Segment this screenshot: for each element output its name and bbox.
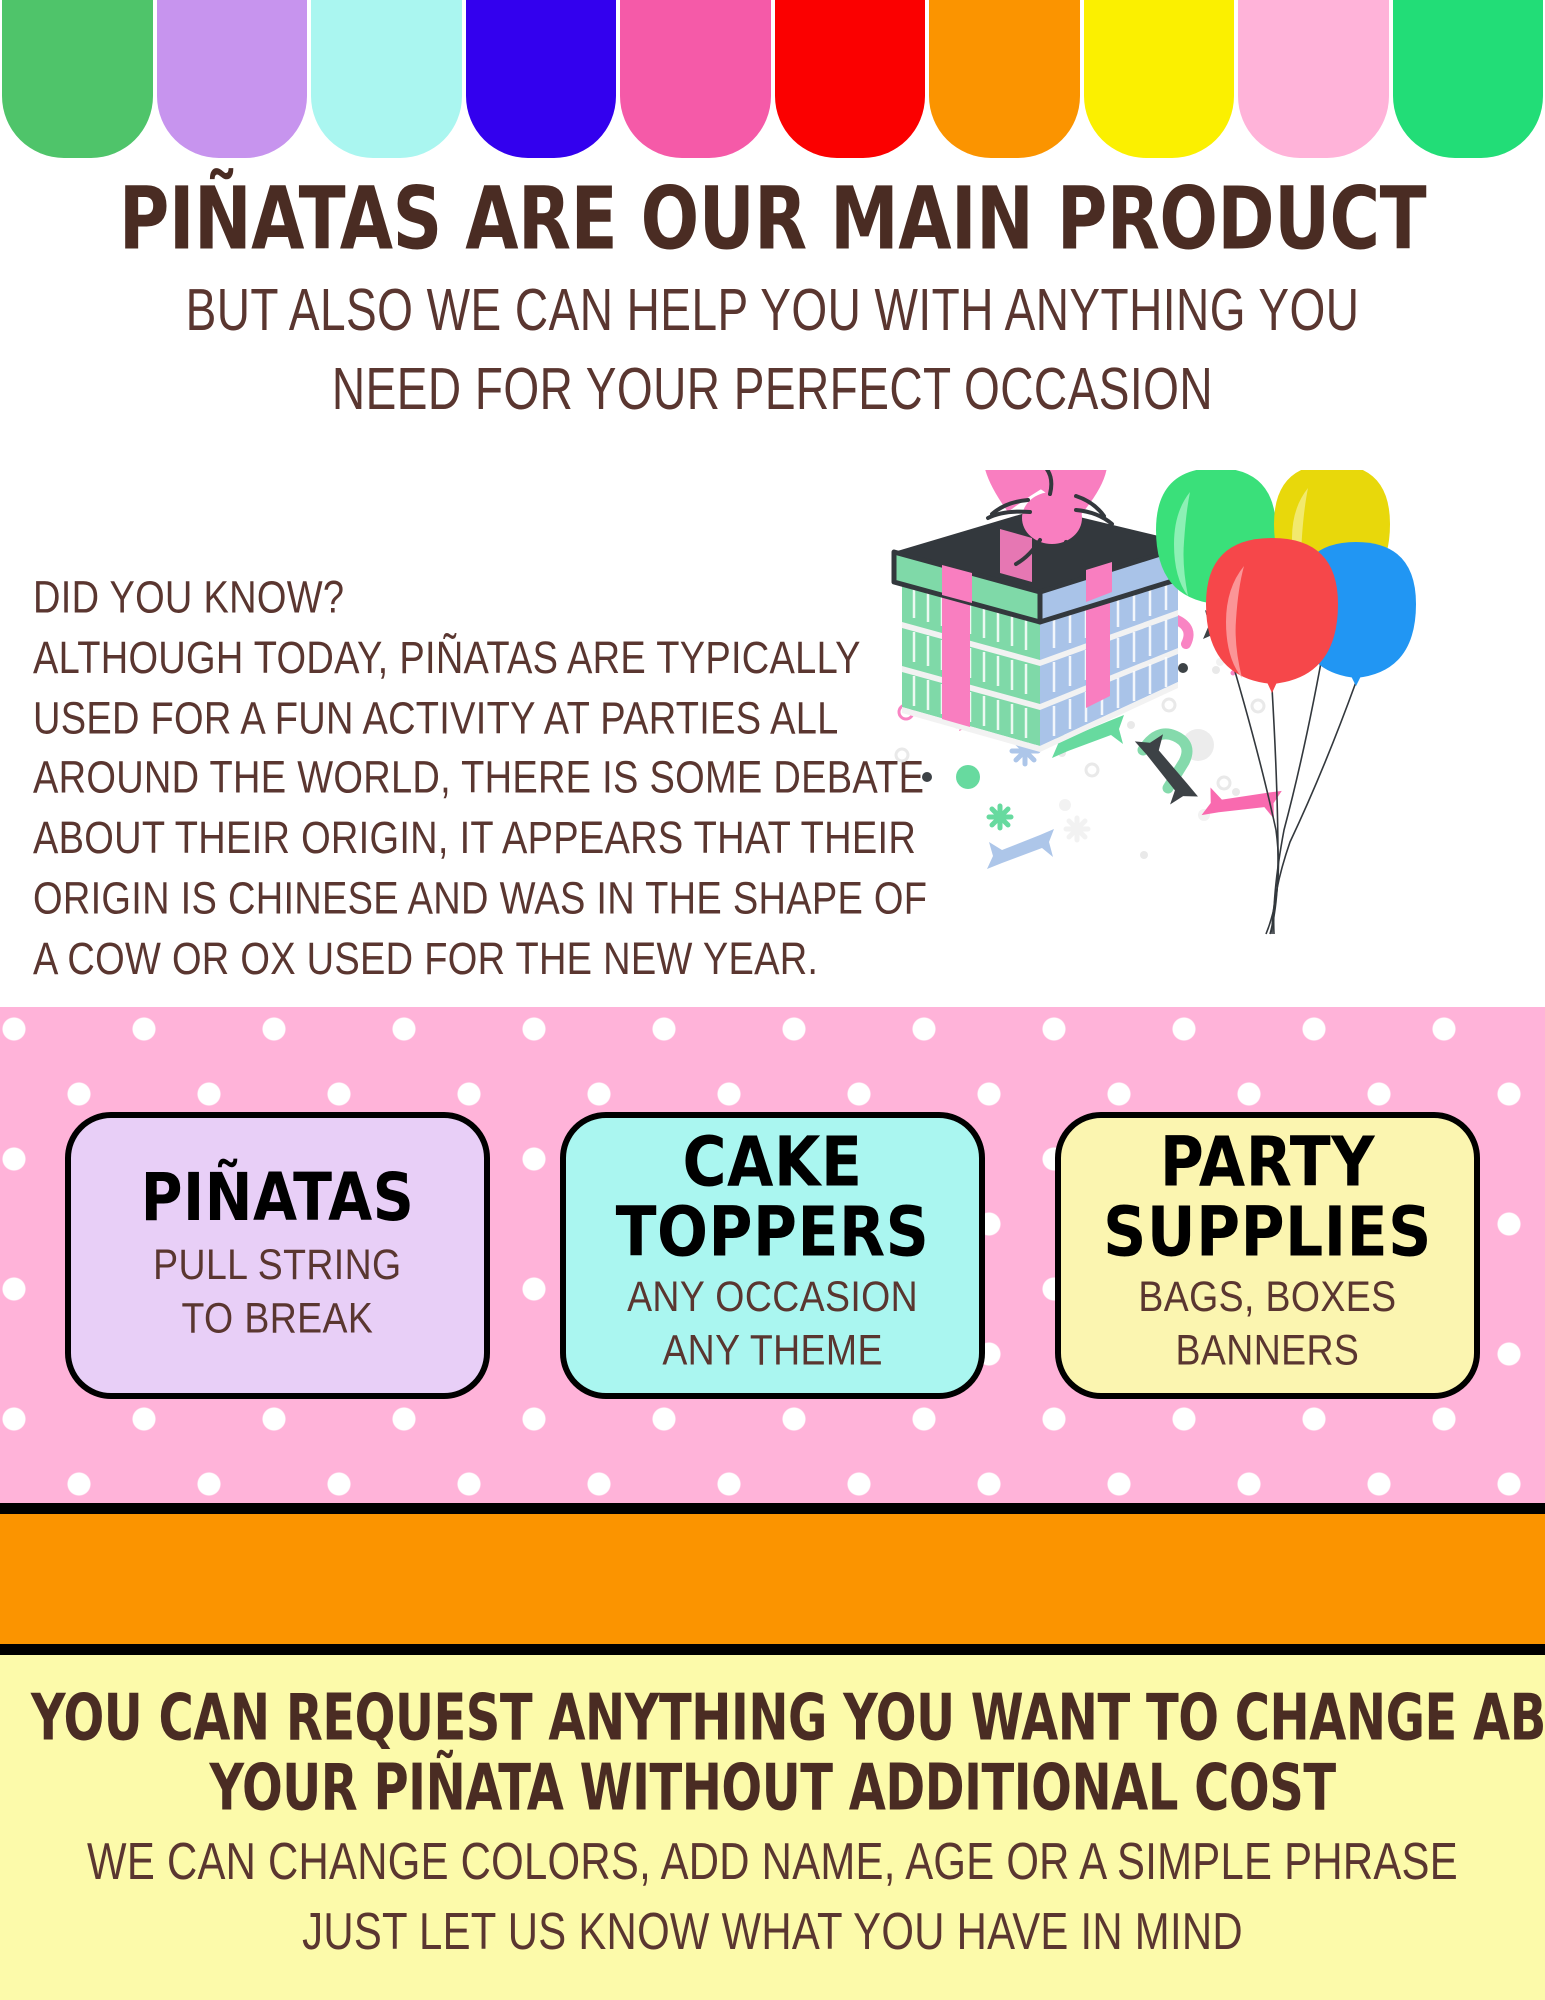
scallop-8 bbox=[1084, 0, 1235, 158]
footer-light-line-2: JUST LET US KNOW WHAT YOU HAVE IN MIND bbox=[54, 1897, 1491, 1967]
card-title-line-2: SUPPLIES bbox=[1103, 1198, 1432, 1268]
illustration-group bbox=[880, 470, 1540, 990]
card-sub-line-2: BANNERS bbox=[1138, 1324, 1396, 1378]
party-illustration-svg bbox=[880, 470, 1540, 990]
subtitle-line-1: BUT ALSO WE CAN HELP YOU WITH ANYTHING Y… bbox=[62, 271, 1483, 349]
page-subtitle: BUT ALSO WE CAN HELP YOU WITH ANYTHING Y… bbox=[62, 271, 1483, 428]
card-sub-pinatas: PULL STRING TO BREAK bbox=[153, 1238, 401, 1346]
body-line-5: ABOUT THEIR ORIGIN, IT APPEARS THAT THEI… bbox=[33, 809, 888, 869]
scallop-banner bbox=[0, 0, 1545, 160]
card-sub-cake-toppers: ANY OCCASION ANY THEME bbox=[627, 1270, 918, 1378]
did-you-know-paragraph: DID YOU KNOW? ALTHOUGH TODAY, PIÑATAS AR… bbox=[33, 568, 888, 989]
scallop-3 bbox=[311, 0, 462, 158]
card-sub-line-2: TO BREAK bbox=[153, 1292, 401, 1346]
card-title-pinatas: PIÑATAS bbox=[141, 1164, 415, 1231]
scallop-6 bbox=[775, 0, 926, 158]
body-line-7: A COW OR OX USED FOR THE NEW YEAR. bbox=[33, 929, 888, 989]
body-line-6: ORIGIN IS CHINESE AND WAS IN THE SHAPE O… bbox=[33, 869, 888, 929]
sparkle-grey-1 bbox=[1066, 818, 1088, 840]
page-title: PIÑATAS ARE OUR MAIN PRODUCT bbox=[23, 158, 1522, 262]
product-cards-row: PIÑATAS PULL STRING TO BREAK CAKE TOPPER… bbox=[0, 1007, 1545, 1503]
scallop-7 bbox=[929, 0, 1080, 158]
card-sub-line-1: ANY OCCASION bbox=[627, 1270, 918, 1324]
scallop-1 bbox=[2, 0, 153, 158]
card-title-line-1: PARTY bbox=[1103, 1128, 1432, 1198]
gift-box-pinata bbox=[894, 470, 1192, 752]
header-block: PIÑATAS ARE OUR MAIN PRODUCT BUT ALSO WE… bbox=[0, 158, 1545, 404]
footer-subtext: WE CAN CHANGE COLORS, ADD NAME, AGE OR A… bbox=[54, 1827, 1491, 1967]
scallop-2 bbox=[157, 0, 308, 158]
product-card-cake-toppers[interactable]: CAKE TOPPERS ANY OCCASION ANY THEME bbox=[560, 1112, 985, 1399]
footer-bold-line-2: YOUR PIÑATA WITHOUT ADDITIONAL COST bbox=[31, 1753, 1514, 1823]
card-sub-party-supplies: BAGS, BOXES BANNERS bbox=[1138, 1270, 1396, 1378]
body-line-1: DID YOU KNOW? bbox=[33, 568, 888, 628]
product-card-pinatas[interactable]: PIÑATAS PULL STRING TO BREAK bbox=[65, 1112, 490, 1399]
body-line-2: ALTHOUGH TODAY, PIÑATAS ARE TYPICALLY bbox=[33, 628, 888, 688]
scallop-10 bbox=[1393, 0, 1544, 158]
candy-blue-1 bbox=[987, 829, 1054, 869]
footer-light-line-1: WE CAN CHANGE COLORS, ADD NAME, AGE OR A… bbox=[54, 1827, 1491, 1897]
balloon-cluster bbox=[1156, 470, 1416, 934]
card-title-party-supplies: PARTY SUPPLIES bbox=[1103, 1128, 1432, 1269]
body-line-4: AROUND THE WORLD, THERE IS SOME DEBATE bbox=[33, 749, 888, 809]
scallop-4 bbox=[466, 0, 617, 158]
card-title-cake-toppers: CAKE TOPPERS bbox=[616, 1128, 930, 1269]
card-sub-line-1: BAGS, BOXES bbox=[1138, 1270, 1396, 1324]
card-title-line-1: CAKE bbox=[616, 1128, 930, 1198]
card-title-line-2: TOPPERS bbox=[616, 1198, 930, 1268]
footer-bold-line-1: YOU CAN REQUEST ANYTHING YOU WANT TO CHA… bbox=[31, 1683, 1514, 1753]
product-card-party-supplies[interactable]: PARTY SUPPLIES BAGS, BOXES BANNERS bbox=[1055, 1112, 1480, 1399]
products-section: PIÑATAS PULL STRING TO BREAK CAKE TOPPER… bbox=[0, 1007, 1545, 1503]
sparkle-green-1 bbox=[989, 806, 1011, 828]
card-sub-line-1: PULL STRING bbox=[153, 1238, 401, 1292]
scallop-5 bbox=[620, 0, 771, 158]
card-sub-line-2: ANY THEME bbox=[627, 1324, 918, 1378]
red-balloon bbox=[1206, 538, 1338, 693]
subtitle-line-2: NEED FOR YOUR PERFECT OCCASION bbox=[62, 349, 1483, 427]
body-line-3: USED FOR A FUN ACTIVITY AT PARTIES ALL bbox=[33, 688, 888, 748]
scallop-9 bbox=[1238, 0, 1389, 158]
customization-section: YOU CAN REQUEST ANYTHING YOU WANT TO CHA… bbox=[0, 1655, 1545, 2000]
orange-divider bbox=[0, 1503, 1545, 1655]
flyer-page: PIÑATAS ARE OUR MAIN PRODUCT BUT ALSO WE… bbox=[0, 0, 1545, 2000]
footer-headline: YOU CAN REQUEST ANYTHING YOU WANT TO CHA… bbox=[31, 1683, 1514, 1824]
